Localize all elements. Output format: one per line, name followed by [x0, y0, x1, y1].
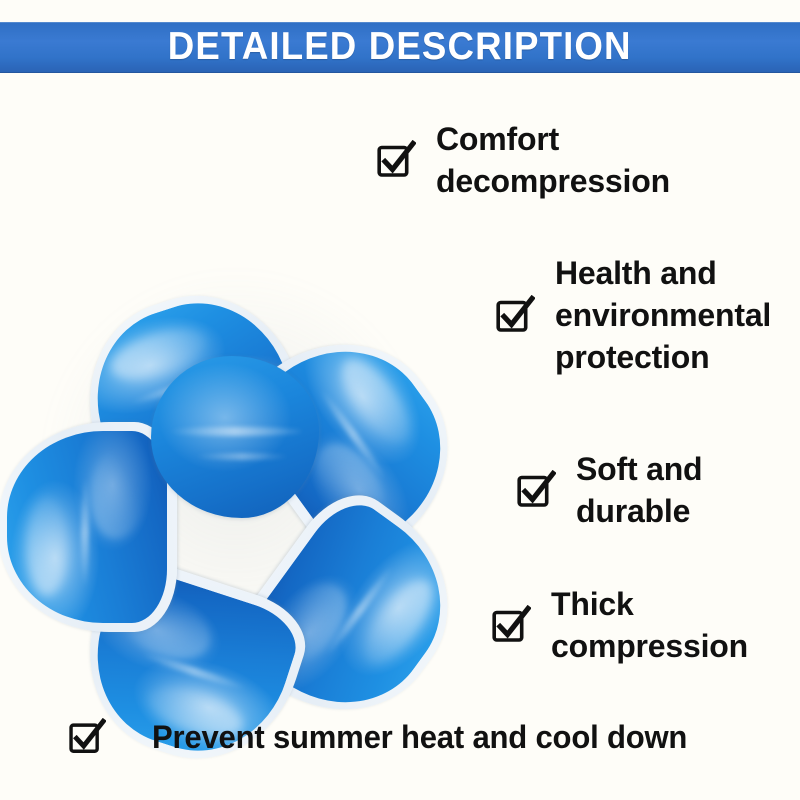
product-photo-gel-pad	[0, 215, 470, 660]
feature-item-health-environmental-protection: Health and environmental protection	[495, 252, 771, 379]
checkbox-checked-icon	[376, 140, 416, 180]
feature-item-prevent-summer-heat: Prevent summer heat and cool down	[68, 716, 704, 758]
checkbox-checked-icon	[516, 470, 556, 510]
feature-label: Health and environmental protection	[555, 252, 771, 379]
feature-label: Comfort decompression	[436, 118, 670, 202]
feature-item-soft-durable: Soft and durable	[516, 448, 702, 532]
checkbox-checked-icon	[491, 605, 531, 645]
detailed-description-banner: DETAILED DESCRIPTION	[0, 22, 800, 73]
gel-pad-center	[151, 356, 319, 518]
banner-title: DETAILED DESCRIPTION	[168, 27, 632, 68]
detailed-description-page: DETAILED DESCRIPTION	[0, 0, 800, 800]
checkbox-checked-icon	[68, 718, 106, 756]
feature-item-thick-compression: Thick compression	[491, 583, 748, 667]
feature-label: Prevent summer heat and cool down	[152, 716, 687, 758]
gel-pad-graphic	[10, 220, 460, 655]
feature-label: Soft and durable	[576, 448, 702, 532]
checkbox-checked-icon	[495, 295, 535, 335]
feature-label: Thick compression	[551, 583, 748, 667]
feature-item-comfort-decompression: Comfort decompression	[376, 118, 670, 202]
gel-pad-petal	[0, 422, 177, 632]
